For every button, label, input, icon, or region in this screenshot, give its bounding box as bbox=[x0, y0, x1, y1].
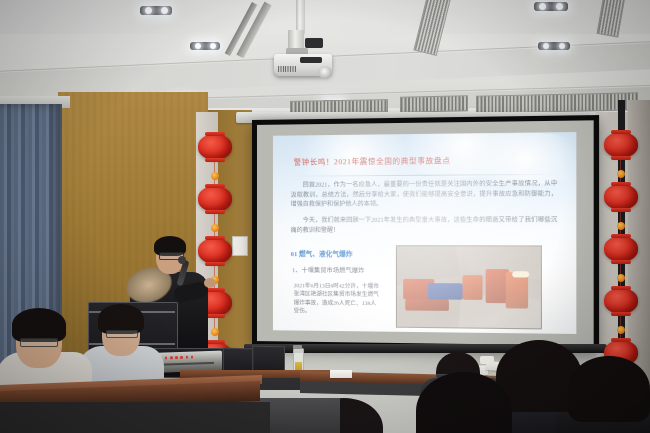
presenter-hand bbox=[204, 278, 216, 288]
audience-left-1-hair bbox=[12, 308, 66, 342]
eyeglasses-icon bbox=[106, 330, 138, 338]
tea-bottle-cap bbox=[293, 345, 302, 349]
paper-lantern bbox=[604, 132, 638, 158]
slide-section-heading: 01 燃气、液化气爆炸 bbox=[291, 248, 353, 258]
slide-rescue-photo bbox=[396, 245, 542, 330]
slide-paragraph-1: 回首2021，作为一名应急人，最重要的一份责任就是关注国内外的安全生产事故情况，… bbox=[291, 180, 558, 210]
paper-lantern bbox=[198, 134, 232, 160]
projector-cable bbox=[305, 38, 323, 48]
microphone-capsule bbox=[178, 256, 186, 264]
lantern-string-right bbox=[604, 132, 638, 342]
slide-paragraph-2: 今天，我们就来回顾一下2021年发生的典型重大事故，这些生命的陨逝又带给了我们哪… bbox=[291, 217, 558, 237]
wall-air-grille bbox=[400, 95, 468, 112]
lantern-knot bbox=[604, 274, 638, 282]
slide-item-detail: 2021年6月13日6时42分许，十堰市张湾区艳湖社区集贸市场发生燃气爆炸事故，… bbox=[294, 282, 380, 317]
presentation-slide: 警钟长鸣！2021年震惊全国的典型事故盘点 回首2021，作为一名应急人，最重要… bbox=[273, 132, 576, 334]
document-papers bbox=[330, 370, 352, 378]
slide-title: 警钟长鸣！2021年震惊全国的典型事故盘点 bbox=[294, 154, 555, 168]
wall-air-grille bbox=[476, 92, 638, 113]
ceiling-downlight bbox=[538, 42, 570, 50]
projector-mount-pole bbox=[296, 0, 305, 34]
lantern-knot bbox=[604, 326, 638, 334]
projector-top-panel bbox=[300, 57, 322, 63]
wall-switch-plate bbox=[232, 236, 248, 256]
projection-screen: 警钟长鸣！2021年震惊全国的典型事故盘点 回首2021，作为一名应急人，最重要… bbox=[252, 115, 599, 351]
slide-item-title: 1、十堰集贸市场燃气爆炸 bbox=[292, 265, 364, 274]
ceiling-downlight bbox=[140, 6, 172, 15]
projection-screen-surface: 警钟长鸣！2021年震惊全国的典型事故盘点 回首2021，作为一名应急人，最重要… bbox=[257, 120, 594, 345]
tissue-box bbox=[480, 356, 494, 364]
projector-lens bbox=[318, 66, 332, 79]
lecture-hall-photo: 警钟长鸣！2021年震惊全国的典型事故盘点 回首2021，作为一名应急人，最重要… bbox=[0, 0, 650, 433]
projector-vent bbox=[278, 66, 296, 72]
lantern-knot bbox=[198, 224, 232, 232]
lantern-knot bbox=[198, 172, 232, 180]
paper-lantern bbox=[604, 184, 638, 210]
ceiling-downlight bbox=[534, 2, 568, 11]
front-table-shadow bbox=[0, 402, 270, 433]
paper-lantern bbox=[604, 288, 638, 314]
paper-lantern bbox=[604, 236, 638, 262]
eyeglasses-icon bbox=[20, 338, 58, 347]
lantern-knot bbox=[604, 170, 638, 178]
ceiling-downlight bbox=[190, 42, 220, 50]
photo-projection-haze bbox=[397, 246, 541, 329]
lantern-knot bbox=[604, 222, 638, 230]
paper-lantern bbox=[198, 186, 232, 212]
audience-far-right-head bbox=[568, 356, 650, 422]
